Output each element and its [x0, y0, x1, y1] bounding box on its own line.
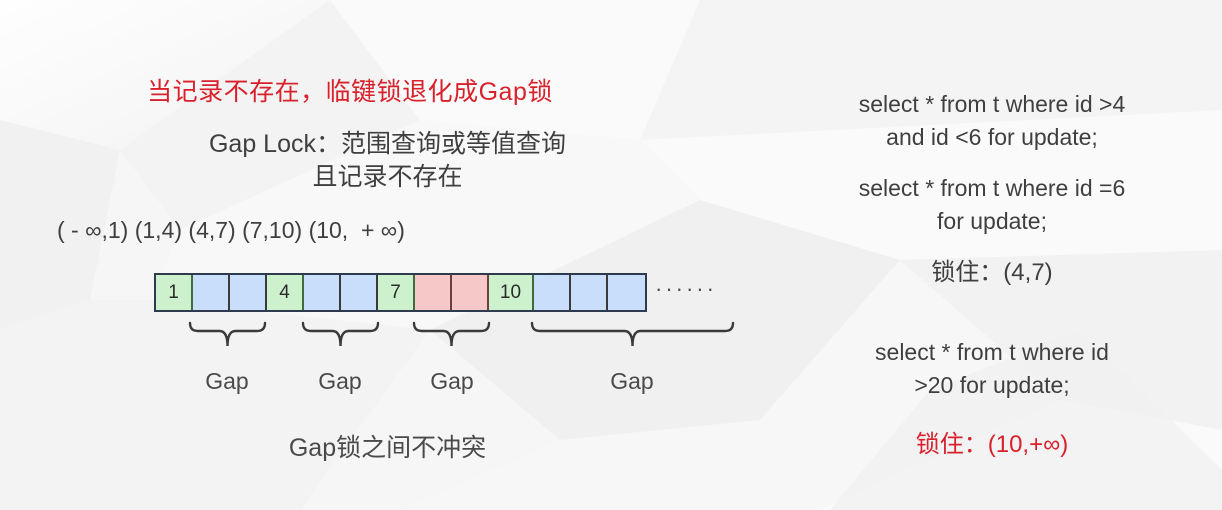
subtitle-line-2: 且记录不存在: [0, 161, 775, 193]
bottom-note: Gap锁之间不冲突: [0, 432, 775, 464]
index-cell: 1: [156, 275, 193, 310]
index-cell: [341, 275, 378, 310]
gap-label: Gap: [572, 367, 692, 396]
gap-brace: [189, 322, 266, 348]
index-cell: [415, 275, 452, 310]
index-record-row: 14710: [154, 273, 647, 312]
index-cell: [230, 275, 267, 310]
index-cell: [534, 275, 571, 310]
index-cell: [452, 275, 489, 310]
index-cell: [193, 275, 230, 310]
index-cell: 4: [267, 275, 304, 310]
subtitle-line-1: Gap Lock：范围查询或等值查询: [0, 128, 775, 160]
index-cell: 10: [489, 275, 534, 310]
index-cell: [304, 275, 341, 310]
index-cell: 7: [378, 275, 415, 310]
query-2: select * from t where id =6 for update;: [762, 172, 1222, 237]
gap-ranges-list: ( - ∞,1) (1,4) (4,7) (7,10) (10, + ∞): [57, 216, 405, 245]
gap-label: Gap: [280, 367, 400, 396]
query-2-lock-result: 锁住：(4,7): [762, 258, 1222, 289]
headline-red: 当记录不存在，临键锁退化成Gap锁: [0, 76, 700, 108]
gap-brace: [413, 322, 490, 348]
gap-label: Gap: [167, 367, 287, 396]
gap-brace: [302, 322, 379, 348]
index-cell: [608, 275, 645, 310]
row-ellipsis: ······: [655, 276, 717, 302]
index-cell: [571, 275, 608, 310]
query-3: select * from t where id >20 for update;: [762, 336, 1222, 401]
query-3-lock-result: 锁住：(10,+∞): [762, 430, 1222, 461]
query-1: select * from t where id >4 and id <6 fo…: [762, 88, 1222, 153]
gap-brace: [531, 322, 734, 348]
gap-label: Gap: [392, 367, 512, 396]
